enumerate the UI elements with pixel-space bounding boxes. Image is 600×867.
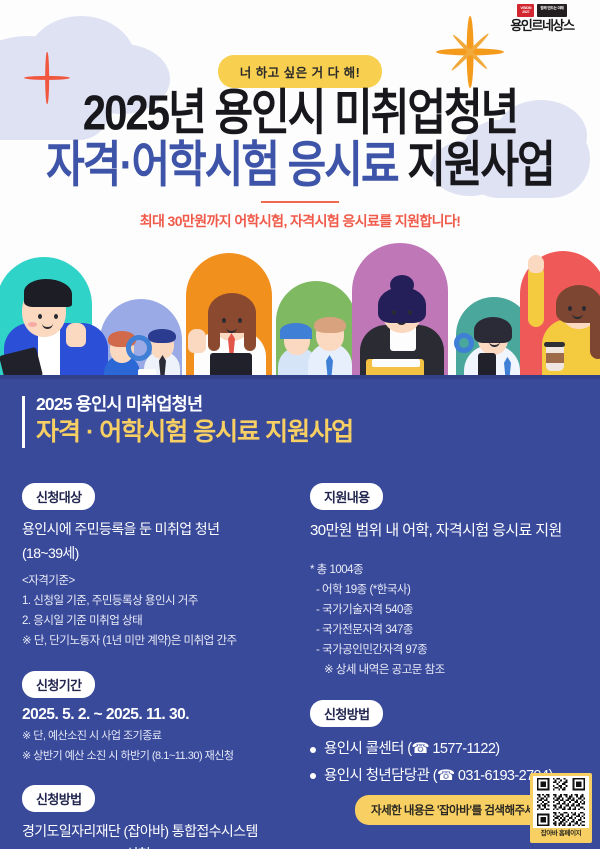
period-dates: 2025. 5. 2. ~ 2025. 11. 30. <box>22 706 312 724</box>
method-line-2: (apply.jobaba.net) 신청 <box>22 843 312 867</box>
logo-chip-slogan: 함께 만드는 미래 <box>537 4 566 17</box>
support-item: - 국가전문자격 347종 <box>310 620 595 640</box>
section-period: 신청기간 2025. 5. 2. ~ 2025. 11. 30. ※ 단, 예산… <box>22 671 312 767</box>
period-note: ※ 단, 예산소진 시 사업 조기종료 <box>22 727 312 747</box>
headline-line-2: 자격·어학시험 응시료 지원사업 <box>0 140 600 190</box>
qr-label: 잡아바 홈페이지 <box>541 828 581 840</box>
coffee-cup-band <box>546 353 564 363</box>
support-item: * 총 1004종 <box>310 560 595 580</box>
pill-period: 신청기간 <box>22 671 95 698</box>
period-note: ※ 상반기 예산 소진 시 하반기 (8.1~11.30) 재신청 <box>22 747 312 767</box>
person-hair <box>148 329 176 343</box>
criteria-item: 1. 신청일 기준, 주민등록상 용인시 거주 <box>22 591 312 611</box>
target-line-1: 용인시에 주민등록을 둔 미취업 청년 <box>22 518 312 542</box>
person-hair <box>474 317 512 343</box>
eye <box>222 318 226 323</box>
paper <box>372 359 420 367</box>
headline-blue-part: 자격·어학시험 응시료 <box>46 136 397 191</box>
logo-chip-vision: VISION2027 <box>517 4 534 17</box>
qr-code-icon[interactable] <box>533 776 589 828</box>
raised-arm <box>528 265 544 327</box>
right-column: 지원내용 30만원 범위 내 어학, 자격시험 응시료 지원 * 총 1004종… <box>310 483 595 790</box>
criteria-item: ※ 단, 단기노동자 (1년 미만 계약)은 미취업 간주 <box>22 631 312 651</box>
criteria-list: <자격기준> 1. 신청일 기준, 주민등록상 용인시 거주 2. 응시일 기준… <box>22 571 312 652</box>
criteria-item: 2. 응시일 기준 미취업 상태 <box>22 611 312 631</box>
poster-header: VISION2027 함께 만드는 미래 용인르네상스 너 하고 싶은 거 다 … <box>0 0 600 385</box>
person-figure <box>352 259 452 385</box>
eye <box>38 314 42 319</box>
person-figure <box>4 265 116 385</box>
support-item: - 어학 19종 (*한국사) <box>310 580 595 600</box>
target-text: 용인시에 주민등록을 둔 미취업 청년 (18~39세) <box>22 518 312 566</box>
eye <box>582 306 586 311</box>
contact-text: 용인시 청년담당관 (☎ 031-6193-2794) <box>324 763 553 790</box>
divider <box>261 201 339 203</box>
people-illustration <box>0 228 600 385</box>
contact-item: 용인시 콜센터 (☎ 1577-1122) <box>310 736 595 763</box>
eye <box>392 310 396 315</box>
coffee-cup-lid <box>544 342 565 347</box>
eye <box>54 314 58 319</box>
section-target: 신청대상 용인시에 주민등록을 둔 미취업 청년 (18~39세) <자격기준>… <box>22 483 312 651</box>
main-title-block: 2025 용인시 미취업청년 자격 · 어학시험 응시료 지원사업 <box>22 393 353 447</box>
main-title-small: 2025 용인시 미취업청년 <box>36 393 353 417</box>
tagline-badge: 너 하고 싶은 거 다 해! <box>218 55 383 88</box>
bullet-dot <box>310 747 316 753</box>
support-item: - 국가공인민간자격 97종 <box>310 640 595 660</box>
criteria-title: <자격기준> <box>22 571 312 591</box>
person-hair <box>208 317 220 351</box>
person-figure <box>520 247 600 385</box>
thumb-up-hand <box>66 323 86 347</box>
person-hair <box>314 317 346 333</box>
poster-body: 2025 용인시 미취업청년 자격 · 어학시험 응시료 지원사업 신청대상 용… <box>0 379 600 849</box>
pill-contact: 신청방법 <box>310 700 383 727</box>
logo-chips: VISION2027 함께 만드는 미래 <box>517 4 566 17</box>
eye <box>238 318 242 323</box>
qr-code-block[interactable]: 잡아바 홈페이지 <box>530 773 592 843</box>
bullet-dot <box>310 773 316 779</box>
target-line-2: (18~39세) <box>22 542 312 566</box>
eye <box>568 306 572 311</box>
period-notes: ※ 단, 예산소진 시 사업 조기종료 ※ 상반기 예산 소진 시 하반기 (8… <box>22 727 312 767</box>
support-headline: 30만원 범위 내 어학, 자격시험 응시료 지원 <box>310 518 595 544</box>
method-line-1: 경기도일자리재단 (잡아바) 통합접수시스템 <box>22 820 312 844</box>
magnifier-icon <box>126 335 152 361</box>
support-item: ※ 상세 내역은 공고문 참조 <box>310 660 595 680</box>
city-logo: VISION2027 함께 만드는 미래 용인르네상스 <box>496 4 588 44</box>
headline-black-part: 지원사업 <box>407 136 554 191</box>
support-item: - 국가기술자격 540종 <box>310 600 595 620</box>
pill-method: 신청방법 <box>22 785 95 812</box>
section-support: 지원내용 30만원 범위 내 어학, 자격시험 응시료 지원 * 총 1004종… <box>310 483 595 680</box>
headline-line-1: 2025년 용인시 미취업청년 <box>0 88 600 138</box>
poster-root: VISION2027 함께 만드는 미래 용인르네상스 너 하고 싶은 거 다 … <box>0 0 600 849</box>
pill-support: 지원내용 <box>310 483 383 510</box>
contact-text: 용인시 콜센터 (☎ 1577-1122) <box>324 736 500 763</box>
person-figure <box>184 273 280 385</box>
person-figure <box>278 303 354 385</box>
person-hair <box>24 279 72 307</box>
person-hair <box>244 317 256 351</box>
method-text: 경기도일자리재단 (잡아바) 통합접수시스템 (apply.jobaba.net… <box>22 820 312 867</box>
main-title-large: 자격 · 어학시험 응시료 지원사업 <box>36 417 353 447</box>
pointing-hand <box>188 329 206 353</box>
person-hair <box>590 309 600 359</box>
left-column: 신청대상 용인시에 주민등록을 둔 미취업 청년 (18~39세) <자격기준>… <box>22 483 312 867</box>
magnifier-icon <box>454 333 474 353</box>
pill-target: 신청대상 <box>22 483 95 510</box>
support-items: * 총 1004종 - 어학 19종 (*한국사) - 국가기술자격 540종 … <box>310 560 595 681</box>
eye <box>408 310 412 315</box>
hair-bun <box>390 275 414 295</box>
section-method: 신청방법 경기도일자리재단 (잡아바) 통합접수시스템 (apply.jobab… <box>22 785 312 867</box>
cheek <box>28 322 37 327</box>
logo-wordmark: 용인르네상스 <box>510 19 573 32</box>
eye <box>485 334 489 339</box>
person-hair <box>280 323 312 339</box>
hand <box>528 255 544 273</box>
eye <box>499 334 503 339</box>
